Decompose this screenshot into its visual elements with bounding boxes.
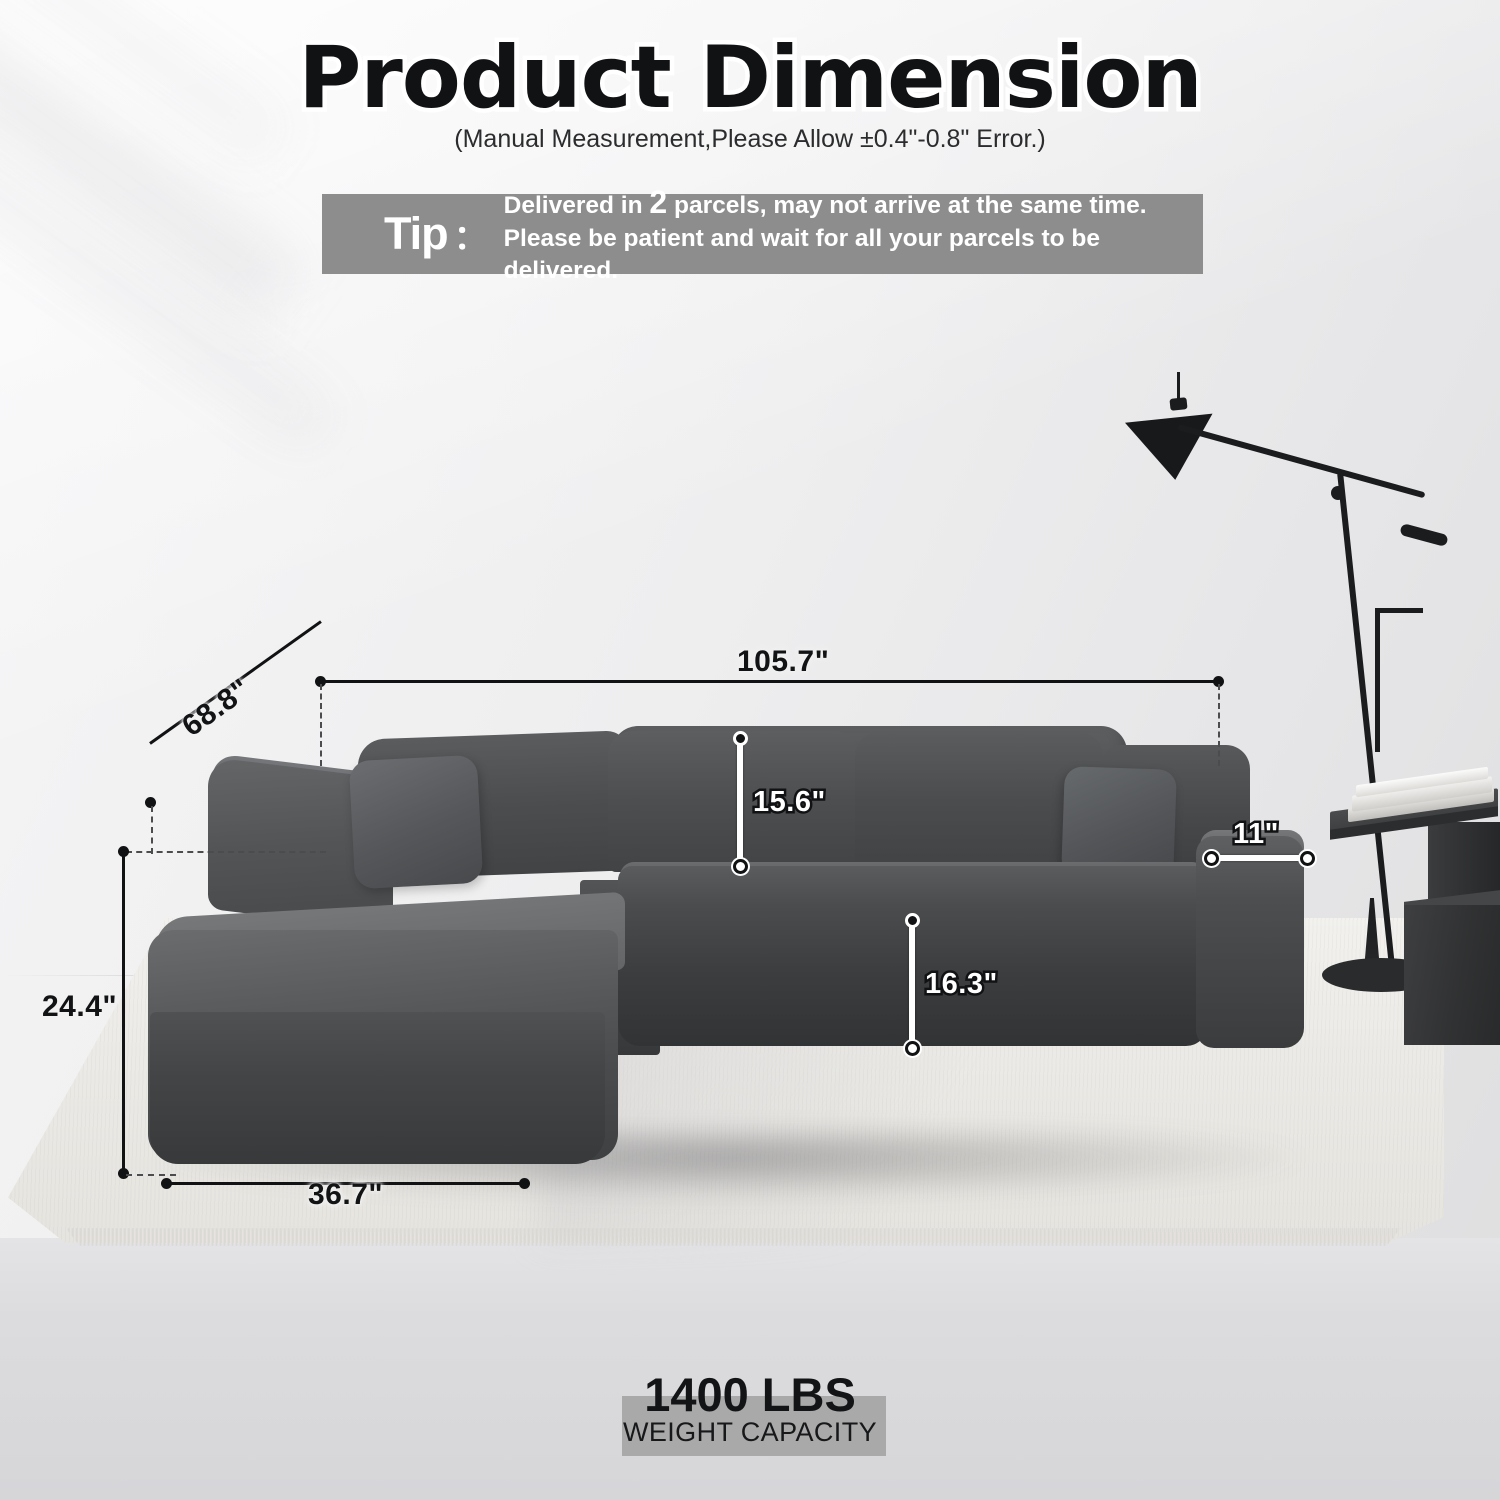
dimension-endpoint-dot xyxy=(1300,851,1315,866)
dimension-extension-dashed xyxy=(1218,684,1220,766)
floor-lamp-bracket xyxy=(1375,608,1423,613)
floor-lamp-knob xyxy=(1169,397,1187,411)
dimension-endpoint-dot xyxy=(519,1178,530,1189)
dimension-endpoint-dot xyxy=(733,731,748,746)
tip-colon: ： xyxy=(454,210,488,259)
dimension-label-overall-height: 24.4" xyxy=(42,990,117,1024)
dimension-label-armrest-width: 11" xyxy=(1233,818,1279,851)
rug-fringe xyxy=(8,1228,1444,1246)
dimension-label-backrest-height: 15.6" xyxy=(753,786,826,819)
dimension-endpoint-dot xyxy=(1204,851,1219,866)
tip-parcel-count: 2 xyxy=(649,184,667,220)
tip-label: Tip xyxy=(384,208,448,260)
dimension-endpoint-dot xyxy=(161,1178,172,1189)
floor-lamp-bracket xyxy=(1375,610,1380,752)
dimension-line-overall-height xyxy=(122,852,125,1174)
tip-line-1-before: Delivered in xyxy=(504,192,650,219)
dimension-line-backrest-height xyxy=(737,740,743,866)
dimension-line-overall-width xyxy=(320,680,1220,683)
capacity-value: 1400 LBS xyxy=(0,1367,1500,1422)
dimension-endpoint-dot xyxy=(905,1041,920,1056)
product-dimension-infographic: 105.7" 68.8" 24.4" 36.7" 15.6" 16.3" 11"… xyxy=(0,0,1500,1500)
sofa-armrest xyxy=(1196,836,1304,1048)
floor-lamp-shade-icon xyxy=(1125,414,1219,485)
dimension-extension-dashed xyxy=(320,684,322,766)
chaise-front-panel xyxy=(150,1012,605,1164)
tip-line-1-after: parcels, may not arrive at the same time… xyxy=(667,192,1146,219)
tip-line-2: Please be patient and wait for all your … xyxy=(504,223,1203,288)
throw-pillow xyxy=(349,755,484,890)
dimension-line-seat-height xyxy=(909,922,915,1048)
dimension-line-armrest-width xyxy=(1211,855,1307,861)
tip-text-block: Delivered in 2 parcels, may not arrive a… xyxy=(504,181,1203,288)
dimension-endpoint-dot xyxy=(733,859,748,874)
tip-line-1: Delivered in 2 parcels, may not arrive a… xyxy=(504,181,1203,223)
dimension-endpoint-dot xyxy=(118,846,129,857)
dimension-extension-dashed xyxy=(126,1174,176,1176)
capacity-caption: WEIGHT CAPACITY xyxy=(0,1417,1500,1448)
dimension-extension-dashed xyxy=(151,806,153,854)
dimension-label-seat-height: 16.3" xyxy=(925,968,998,1001)
storage-cube xyxy=(1404,905,1500,1045)
dimension-label-overall-width: 105.7" xyxy=(737,645,829,679)
dimension-label-chaise-width: 36.7" xyxy=(308,1178,383,1212)
page-subtitle: (Manual Measurement,Please Allow ±0.4"-0… xyxy=(0,125,1500,154)
dimension-endpoint-dot xyxy=(905,913,920,928)
page-title: Product Dimension xyxy=(0,28,1500,128)
dimension-extension-dashed xyxy=(126,851,326,853)
tip-banner: Tip ： Delivered in 2 parcels, may not ar… xyxy=(322,194,1203,274)
